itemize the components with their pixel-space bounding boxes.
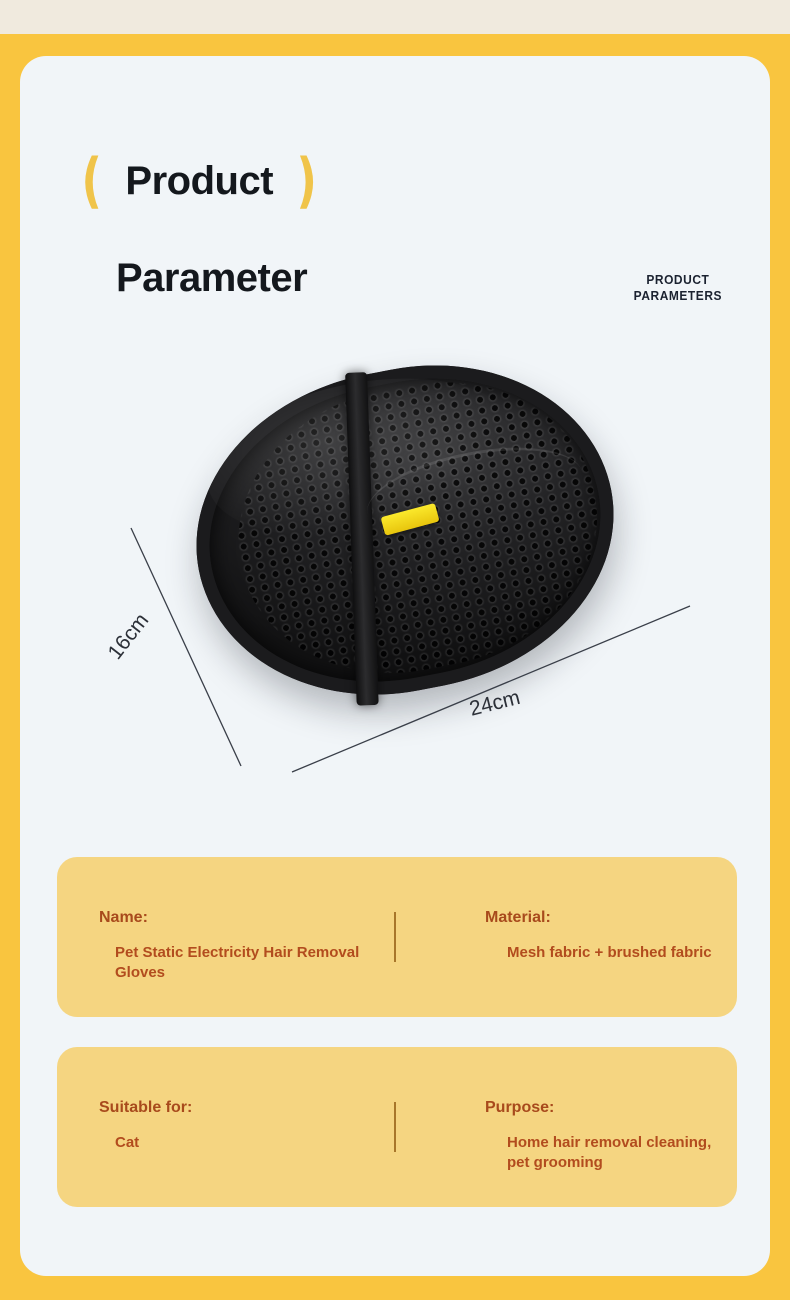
- card-divider: [394, 1102, 396, 1152]
- heading-title-row: ( Product ): [78, 150, 320, 212]
- spec-label: Name:: [99, 909, 148, 927]
- spec-value: Mesh fabric + brushed fabric: [507, 943, 737, 963]
- page-heading: ( Product ) Parameter: [78, 150, 320, 212]
- caption-line-1: PRODUCT: [634, 272, 722, 288]
- product-image: [20, 330, 770, 830]
- spec-label: Purpose:: [485, 1099, 554, 1117]
- spec-value: Home hair removal cleaning, pet grooming: [507, 1133, 737, 1174]
- spec-cell-purpose: Purpose: Home hair removal cleaning, pet…: [485, 1047, 725, 1207]
- spec-cell-name: Name: Pet Static Electricity Hair Remova…: [99, 857, 399, 1017]
- left-parenthesis-decoration: (: [81, 151, 102, 211]
- caption-line-2: PARAMETERS: [634, 288, 722, 304]
- card-divider: [394, 912, 396, 962]
- spec-label: Material:: [485, 909, 551, 927]
- glove-illustration: [168, 333, 641, 727]
- spec-cell-suitable-for: Suitable for: Cat: [99, 1047, 399, 1207]
- spec-cell-material: Material: Mesh fabric + brushed fabric: [485, 857, 725, 1017]
- page-title-line2: Parameter: [116, 256, 307, 301]
- spec-value: Pet Static Electricity Hair Removal Glov…: [115, 943, 365, 984]
- page-title-line1: Product: [125, 159, 273, 204]
- right-parenthesis-decoration: ): [296, 151, 317, 211]
- top-cream-strip: [0, 0, 790, 34]
- spec-card: Suitable for: Cat Purpose: Home hair rem…: [57, 1047, 737, 1207]
- product-parameters-caption: PRODUCT PARAMETERS: [634, 272, 722, 305]
- spec-card: Name: Pet Static Electricity Hair Remova…: [57, 857, 737, 1017]
- spec-value: Cat: [115, 1133, 365, 1153]
- spec-label: Suitable for:: [99, 1099, 192, 1117]
